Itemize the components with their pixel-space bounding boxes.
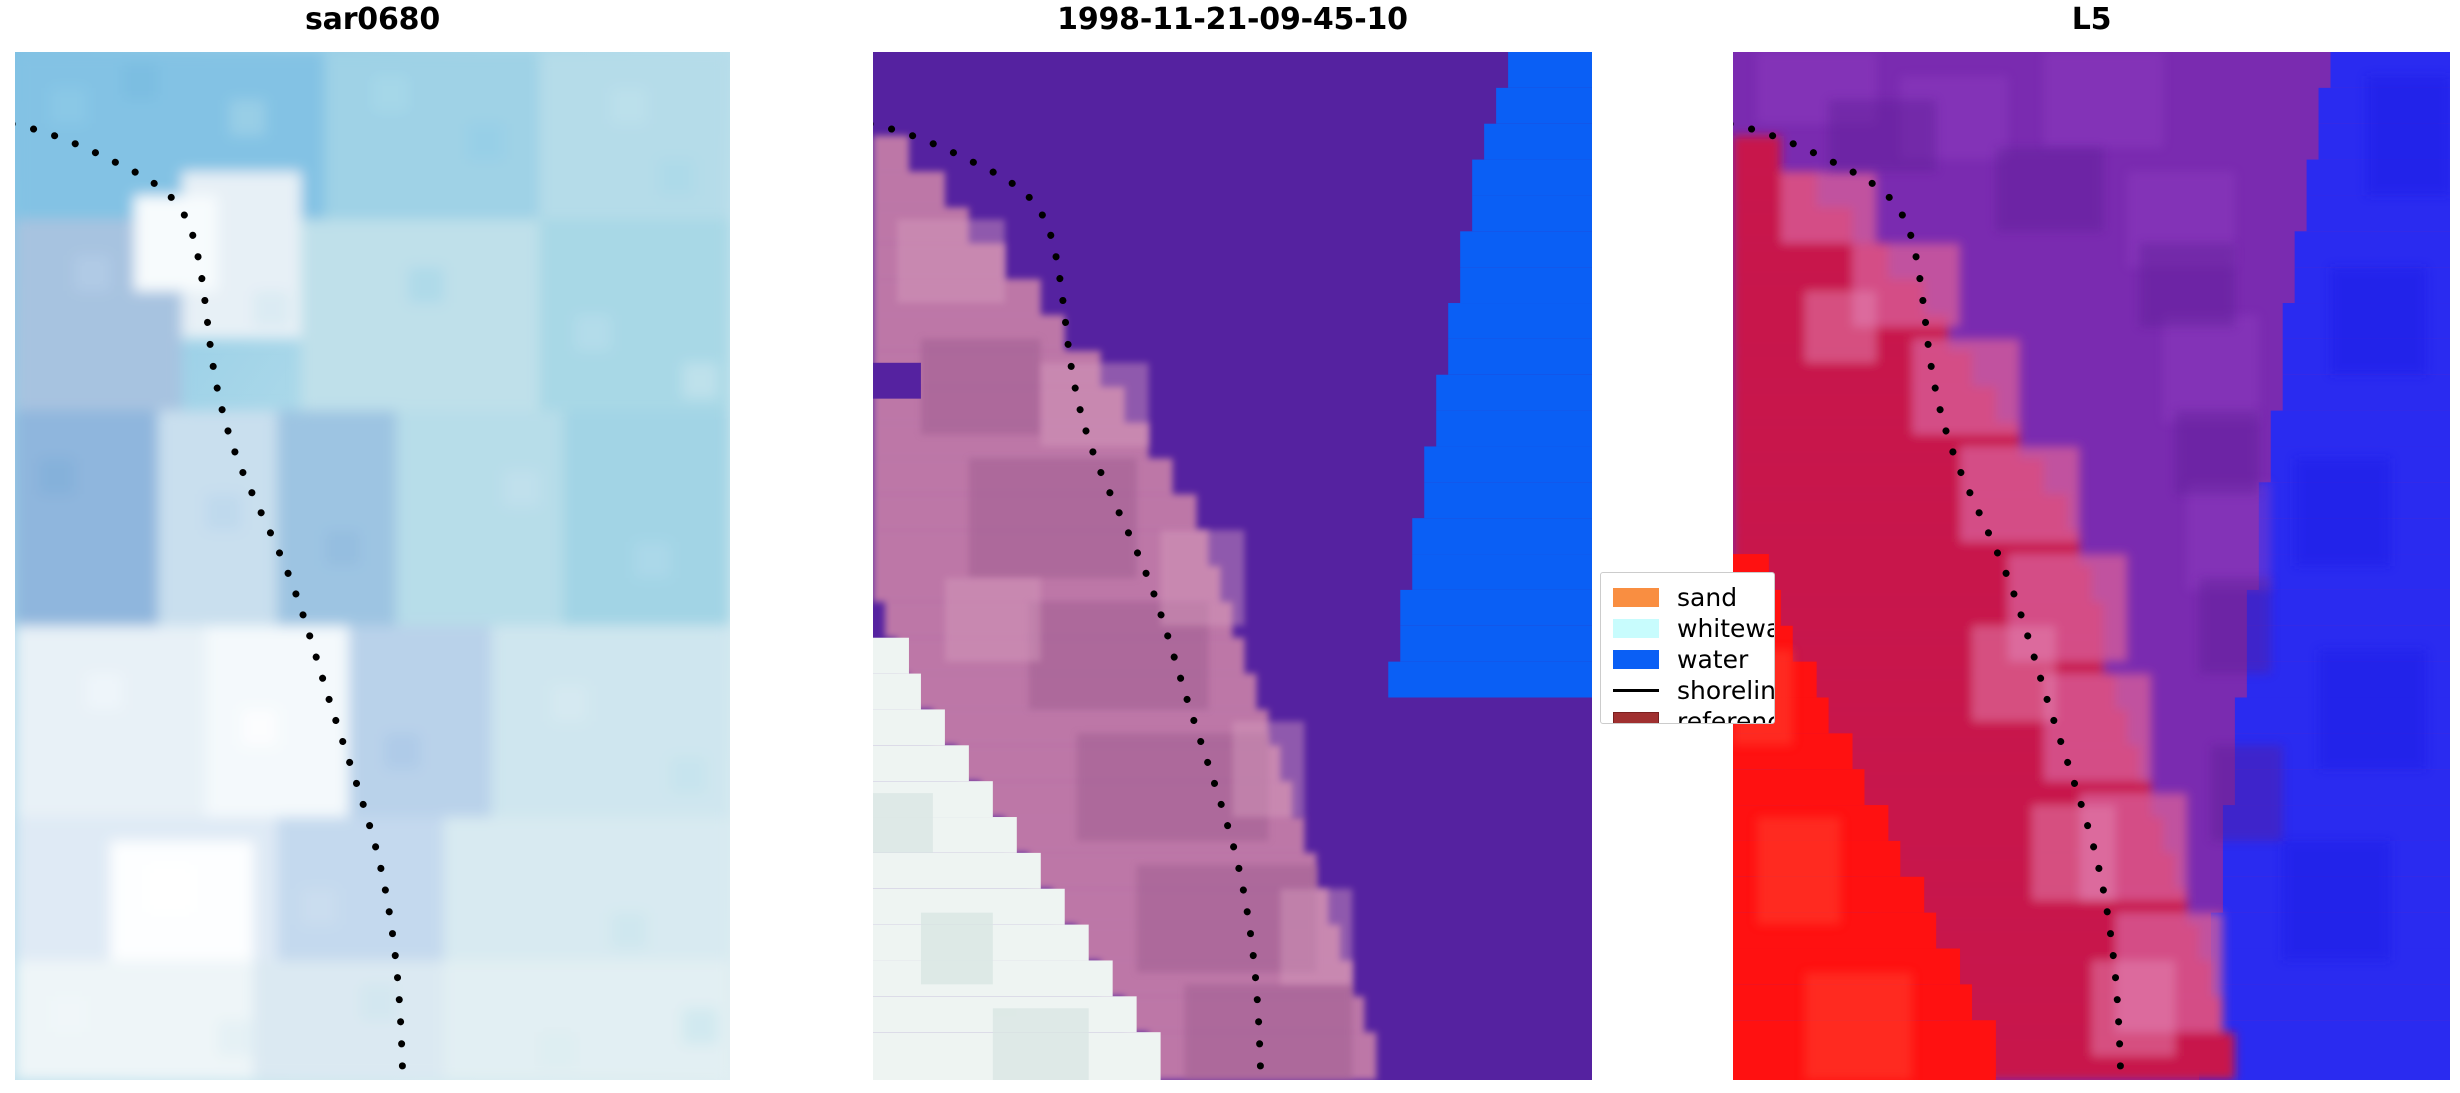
legend-item-water: water <box>1613 644 1764 675</box>
legend-label-whitewater: whitewater <box>1677 616 1775 641</box>
water-swatch <box>1613 650 1659 669</box>
legend-label-sand: sand <box>1677 585 1737 610</box>
legend-item-reference-shoreline: reference_shoreline <box>1613 706 1764 724</box>
classified-panel[interactable] <box>873 52 1592 1080</box>
legend-label-water: water <box>1677 647 1748 672</box>
sand-swatch <box>1613 588 1659 607</box>
shoreline-line-marker <box>1613 681 1659 700</box>
l5-image <box>1733 52 2450 1080</box>
classified-image <box>873 52 1592 1080</box>
legend-label-reference-shoreline: reference_shoreline <box>1677 709 1775 724</box>
sar-panel[interactable] <box>15 52 730 1080</box>
legend-item-whitewater: whitewater <box>1613 613 1764 644</box>
classified-raster <box>873 52 1592 1080</box>
panel-title-l5: L5 <box>1733 5 2450 35</box>
figure-canvas: sar0680 <box>0 0 2460 1093</box>
sar-raster <box>15 52 730 1080</box>
whitewater-swatch <box>1613 619 1659 638</box>
panel-title-classified: 1998-11-21-09-45-10 <box>873 5 1592 35</box>
legend: sand whitewater water shoreline referenc… <box>1600 572 1775 724</box>
legend-item-sand: sand <box>1613 582 1764 613</box>
reference-shoreline-swatch <box>1613 712 1659 724</box>
l5-panel[interactable] <box>1733 52 2450 1080</box>
sar-image <box>15 52 730 1080</box>
panel-title-sar: sar0680 <box>15 5 730 35</box>
legend-label-shoreline: shoreline <box>1677 678 1775 703</box>
l5-raster <box>1733 52 2450 1080</box>
legend-item-shoreline: shoreline <box>1613 675 1764 706</box>
